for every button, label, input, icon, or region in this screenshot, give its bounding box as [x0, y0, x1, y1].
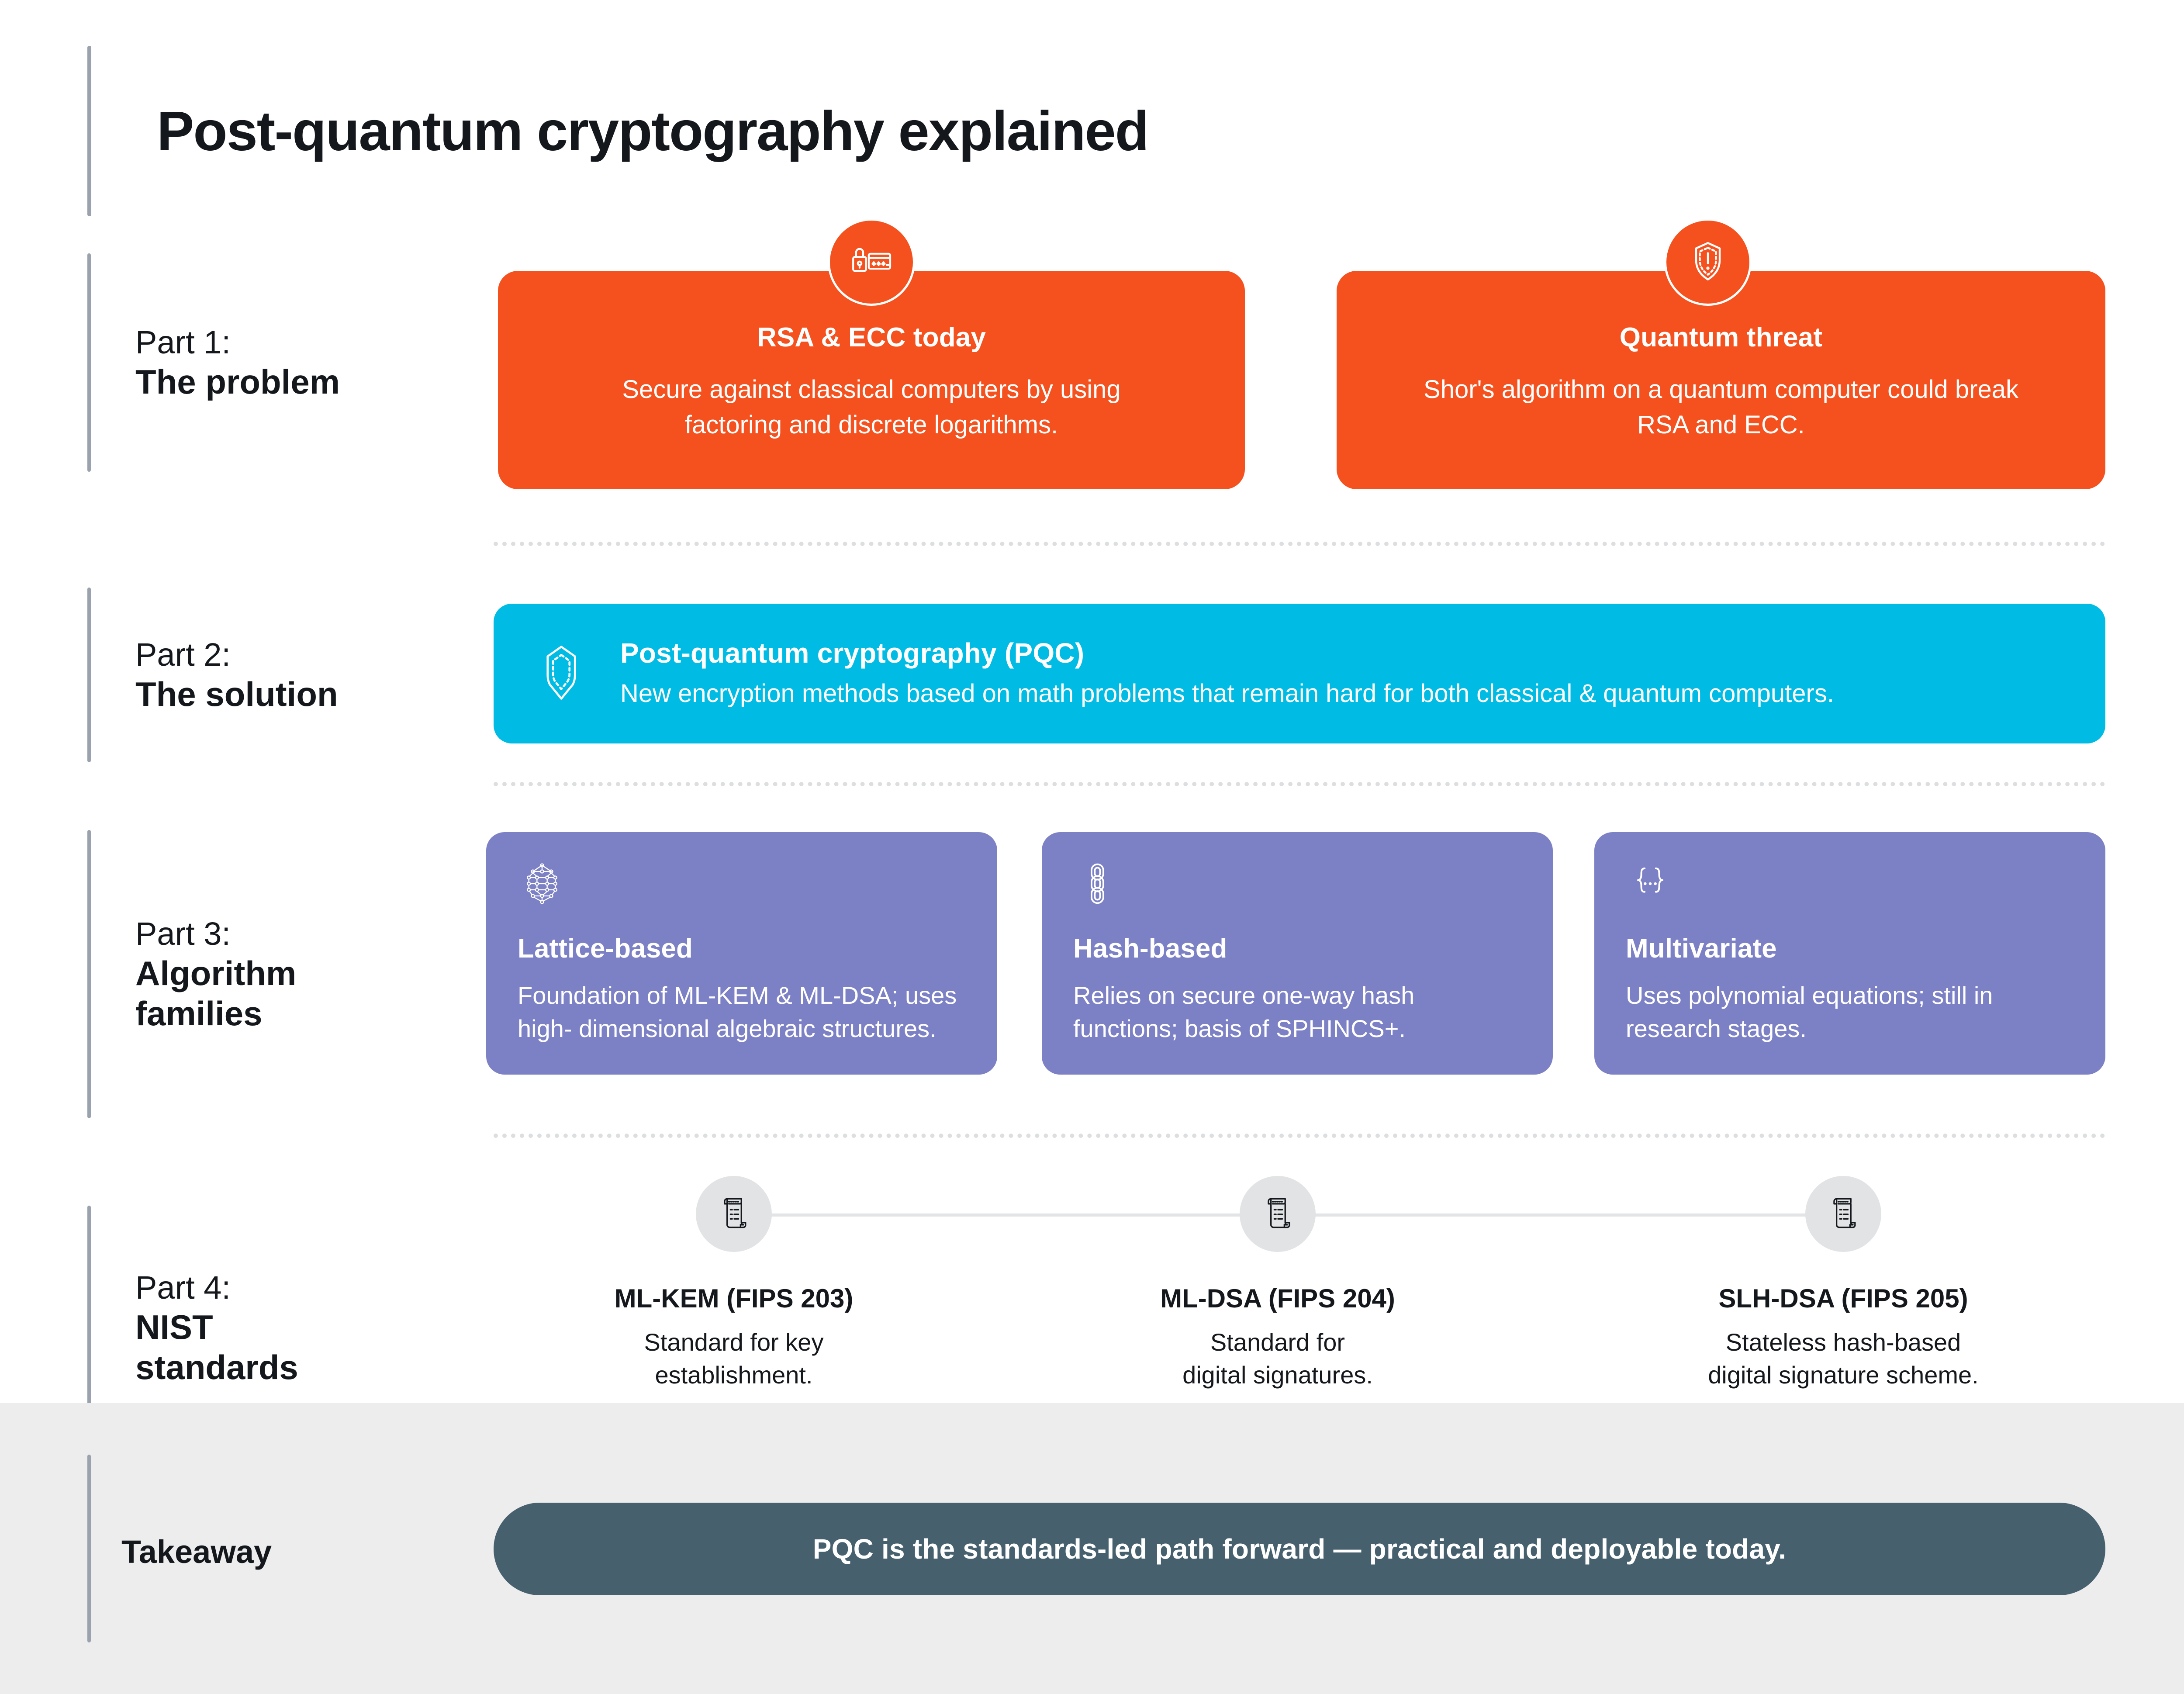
- nist-item-slh-dsa-description: Stateless hash-based digital signature s…: [1708, 1326, 1978, 1391]
- takeaway-rail: [87, 1455, 91, 1642]
- takeaway-label: Takeaway: [121, 1533, 272, 1570]
- document-scroll-icon: [714, 1193, 754, 1235]
- part-1-rail: [87, 253, 91, 472]
- part-2-rail: [87, 588, 91, 762]
- infographic-page: Post-quantum cryptography explained Part…: [0, 0, 2184, 1694]
- nist-item-slh-dsa: SLH-DSA (FIPS 205) Stateless hash-based …: [1612, 1176, 2075, 1391]
- part-4-name: NIST standards: [135, 1307, 298, 1387]
- part-1-label-group: Part 1: The problem: [87, 253, 524, 472]
- card-multivariate: Multivariate Uses polynomial equations; …: [1594, 832, 2105, 1075]
- curly-braces-icon: [1626, 859, 2075, 910]
- password-lock-icon: [846, 235, 897, 289]
- part-4-number: Part 4:: [135, 1269, 298, 1307]
- part-3-label-text: Part 3: Algorithm families: [135, 915, 296, 1033]
- banner-pqc: Post-quantum cryptography (PQC) New encr…: [494, 604, 2105, 743]
- nist-item-slh-dsa-title: SLH-DSA (FIPS 205): [1718, 1283, 1968, 1314]
- part-2-label-text: Part 2: The solution: [135, 636, 338, 714]
- takeaway-statement: PQC is the standards-led path forward — …: [494, 1503, 2105, 1595]
- part-3-rail: [87, 830, 91, 1118]
- banner-pqc-description: New encryption methods based on math pro…: [620, 677, 1834, 710]
- shield-outline-icon: [529, 640, 594, 708]
- card-quantum-threat-description: Shor's algorithm on a quantum computer c…: [1420, 372, 2022, 442]
- card-hash-based: Hash-based Relies on secure one-way hash…: [1042, 832, 1553, 1075]
- card-lattice-based-description: Foundation of ML-KEM & ML-DSA; uses high…: [518, 979, 967, 1045]
- part-3-name: Algorithm families: [135, 953, 296, 1034]
- card-multivariate-description: Uses polynomial equations; still in rese…: [1626, 979, 2075, 1045]
- nist-bubble-ml-dsa: [1240, 1176, 1316, 1252]
- nist-item-ml-dsa-description: Standard for digital signatures.: [1182, 1326, 1373, 1391]
- card-lattice-based-title: Lattice-based: [518, 933, 967, 964]
- nist-item-ml-kem-title: ML-KEM (FIPS 203): [615, 1283, 854, 1314]
- part-1-label-text: Part 1: The problem: [135, 323, 340, 401]
- card-multivariate-title: Multivariate: [1626, 933, 2075, 964]
- banner-pqc-texts: Post-quantum cryptography (PQC) New encr…: [620, 637, 1834, 710]
- shield-alert-icon: [1682, 235, 1734, 289]
- nist-item-ml-kem: ML-KEM (FIPS 203) Standard for key estab…: [502, 1176, 965, 1391]
- nist-bubble-slh-dsa: [1805, 1176, 1881, 1252]
- card-rsa-ecc-title: RSA & ECC today: [757, 322, 986, 353]
- part-4-label-text: Part 4: NIST standards: [135, 1269, 298, 1387]
- part-3-label-group: Part 3: Algorithm families: [87, 830, 524, 1118]
- card-rsa-ecc-description: Secure against classical computers by us…: [581, 372, 1162, 442]
- lattice-network-icon: [518, 859, 967, 910]
- card-lattice-based: Lattice-based Foundation of ML-KEM & ML-…: [486, 832, 997, 1075]
- chain-link-icon: [1073, 859, 1522, 910]
- part-1-number: Part 1:: [135, 323, 340, 361]
- password-lock-badge: [828, 218, 915, 306]
- part-2-label-group: Part 2: The solution: [87, 588, 524, 762]
- card-hash-based-title: Hash-based: [1073, 933, 1522, 964]
- part-2-name: The solution: [135, 674, 338, 714]
- banner-pqc-title: Post-quantum cryptography (PQC): [620, 637, 1834, 669]
- separator-part-2-3: [494, 782, 2105, 786]
- card-hash-based-description: Relies on secure one-way hash functions;…: [1073, 979, 1522, 1045]
- card-quantum-threat-title: Quantum threat: [1620, 322, 1822, 353]
- part-3-number: Part 3:: [135, 915, 296, 953]
- page-title: Post-quantum cryptography explained: [157, 99, 1148, 163]
- nist-item-ml-dsa: ML-DSA (FIPS 204) Standard for digital s…: [1046, 1176, 1509, 1391]
- shield-alert-badge: [1664, 218, 1752, 306]
- page-title-block: Post-quantum cryptography explained: [87, 44, 1572, 218]
- document-scroll-icon: [1823, 1193, 1863, 1235]
- title-accent-rail: [87, 46, 91, 216]
- separator-part-1-2: [494, 542, 2105, 546]
- separator-part-3-4: [494, 1134, 2105, 1138]
- part-2-number: Part 2:: [135, 636, 338, 674]
- part-1-name: The problem: [135, 362, 340, 402]
- nist-item-ml-dsa-title: ML-DSA (FIPS 204): [1160, 1283, 1395, 1314]
- nist-item-ml-kem-description: Standard for key establishment.: [644, 1326, 824, 1391]
- document-scroll-icon: [1258, 1193, 1298, 1235]
- nist-bubble-ml-kem: [696, 1176, 772, 1252]
